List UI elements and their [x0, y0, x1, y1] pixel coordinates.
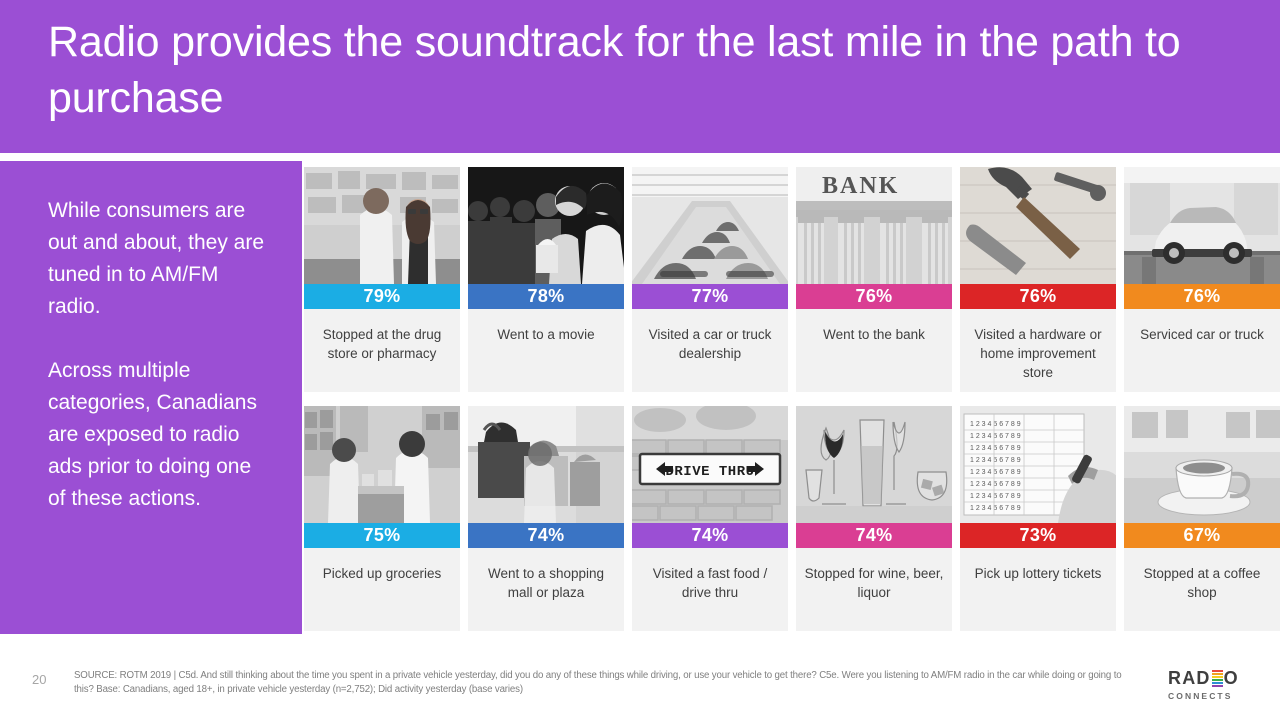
- source-note: SOURCE: ROTM 2019 | C5d. And still think…: [74, 669, 1134, 697]
- car-dealership-photo: [632, 167, 788, 284]
- activity-card[interactable]: 67% Stopped at a coffee shop: [1124, 406, 1280, 631]
- logo-bar: [1212, 679, 1223, 681]
- activity-card[interactable]: 79% Stopped at the drug store or pharmac…: [304, 167, 460, 392]
- activity-card[interactable]: 75% Picked up groceries: [304, 406, 460, 631]
- stat-percent: 74%: [468, 523, 624, 548]
- stat-percent: 76%: [796, 284, 952, 309]
- radio-connects-logo: RAD O CONNECTS: [1168, 668, 1264, 706]
- logo-subtitle: CONNECTS: [1168, 691, 1264, 701]
- side-panel: While consumers are out and about, they …: [0, 161, 302, 634]
- svg-text:1 2 3 4 5 6 7 8 9: 1 2 3 4 5 6 7 8 9: [970, 445, 1021, 452]
- slide-footer: 20 SOURCE: ROTM 2019 | C5d. And still th…: [0, 648, 1280, 720]
- stat-percent: 79%: [304, 284, 460, 309]
- grocery-checkout-photo: [304, 406, 460, 523]
- logo-bar: [1212, 685, 1223, 687]
- svg-text:1 2 3 4 5 6 7 8 9: 1 2 3 4 5 6 7 8 9: [970, 493, 1021, 500]
- logo-word-part-1: RAD: [1168, 668, 1211, 689]
- hardware-tools-photo: [960, 167, 1116, 284]
- card-label: Went to a shopping mall or plaza: [468, 548, 624, 631]
- activity-card[interactable]: 76% Visited a hardware or home improveme…: [960, 167, 1116, 392]
- bank-photo: BANK: [796, 167, 952, 284]
- card-label: Stopped at the drug store or pharmacy: [304, 309, 460, 392]
- svg-text:1 2 3 4 5 6 7 8 9: 1 2 3 4 5 6 7 8 9: [970, 457, 1021, 464]
- activity-card[interactable]: DRIVE THRU 74% Visited a fast food / dri…: [632, 406, 788, 631]
- svg-text:1 2 3 4 5 6 7 8 9: 1 2 3 4 5 6 7 8 9: [970, 421, 1021, 428]
- card-label: Went to a movie: [468, 309, 624, 392]
- activity-card[interactable]: 76% Serviced car or truck: [1124, 167, 1280, 392]
- card-label: Visited a fast food / drive thru: [632, 548, 788, 631]
- pharmacy-photo: [304, 167, 460, 284]
- card-label: Visited a hardware or home improvement s…: [960, 309, 1116, 392]
- svg-text:DRIVE THRU: DRIVE THRU: [665, 464, 754, 480]
- lottery-ticket-photo: 1 2 3 4 5 6 7 8 9 1 2 3 4 5 6 7 8 9 1 2 …: [960, 406, 1116, 523]
- stat-percent: 77%: [632, 284, 788, 309]
- stat-percent: 73%: [960, 523, 1116, 548]
- card-label: Stopped at a coffee shop: [1124, 548, 1280, 631]
- stat-percent: 78%: [468, 284, 624, 309]
- logo-word-part-2: O: [1224, 668, 1239, 689]
- movie-theatre-photo: [468, 167, 624, 284]
- svg-text:1 2 3 4 5 6 7 8 9: 1 2 3 4 5 6 7 8 9: [970, 469, 1021, 476]
- card-label: Picked up groceries: [304, 548, 460, 631]
- activity-card-grid: 79% Stopped at the drug store or pharmac…: [304, 167, 1280, 634]
- drive-thru-sign-photo: DRIVE THRU: [632, 406, 788, 523]
- logo-bar: [1212, 670, 1223, 672]
- card-row-1: 79% Stopped at the drug store or pharmac…: [304, 167, 1280, 392]
- card-label: Serviced car or truck: [1124, 309, 1280, 392]
- activity-card[interactable]: 77% Visited a car or truck dealership: [632, 167, 788, 392]
- svg-text:1 2 3 4 5 6 7 8 9: 1 2 3 4 5 6 7 8 9: [970, 481, 1021, 488]
- side-panel-paragraph-2: Across multiple categories, Canadians ar…: [48, 355, 270, 515]
- page-title: Radio provides the soundtrack for the la…: [48, 14, 1220, 126]
- coffee-cup-photo: [1124, 406, 1280, 523]
- activity-card[interactable]: BANK: [796, 167, 952, 392]
- drink-glasses-photo: [796, 406, 952, 523]
- logo-bar: [1212, 676, 1223, 678]
- stat-percent: 76%: [960, 284, 1116, 309]
- activity-card[interactable]: 74% Stopped for wine, beer, liquor: [796, 406, 952, 631]
- stat-percent: 74%: [632, 523, 788, 548]
- logo-bar: [1212, 673, 1223, 675]
- card-label: Went to the bank: [796, 309, 952, 392]
- slide-header: Radio provides the soundtrack for the la…: [0, 0, 1280, 153]
- logo-wordmark: RAD O: [1168, 668, 1264, 688]
- card-label: Stopped for wine, beer, liquor: [796, 548, 952, 631]
- card-row-2: 75% Picked up groceries: [304, 406, 1280, 631]
- stat-percent: 67%: [1124, 523, 1280, 548]
- logo-bars-icon: [1212, 670, 1223, 687]
- card-label: Pick up lottery tickets: [960, 548, 1116, 631]
- logo-bar: [1212, 682, 1223, 684]
- shopping-bags-photo: [468, 406, 624, 523]
- activity-card[interactable]: 1 2 3 4 5 6 7 8 9 1 2 3 4 5 6 7 8 9 1 2 …: [960, 406, 1116, 631]
- slide-number: 20: [32, 672, 46, 687]
- stat-percent: 75%: [304, 523, 460, 548]
- activity-card[interactable]: 78% Went to a movie: [468, 167, 624, 392]
- svg-text:1 2 3 4 5 6 7 8 9: 1 2 3 4 5 6 7 8 9: [970, 505, 1021, 512]
- stat-percent: 76%: [1124, 284, 1280, 309]
- car-service-photo: [1124, 167, 1280, 284]
- svg-text:BANK: BANK: [822, 173, 899, 199]
- stat-percent: 74%: [796, 523, 952, 548]
- svg-text:1 2 3 4 5 6 7 8 9: 1 2 3 4 5 6 7 8 9: [970, 433, 1021, 440]
- card-label: Visited a car or truck dealership: [632, 309, 788, 392]
- activity-card[interactable]: 74% Went to a shopping mall or plaza: [468, 406, 624, 631]
- side-panel-paragraph-1: While consumers are out and about, they …: [48, 195, 270, 323]
